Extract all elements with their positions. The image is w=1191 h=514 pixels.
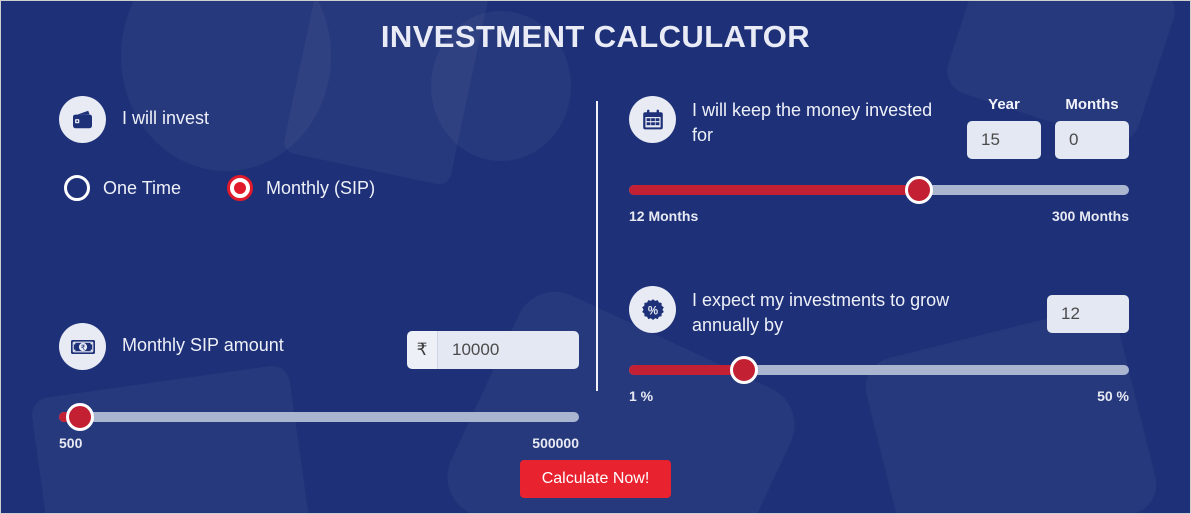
wallet-icon	[59, 96, 106, 143]
duration-months-label: Months	[1065, 96, 1118, 113]
sip-amount-slider-scale: 500 500000	[59, 435, 579, 451]
radio-circle-monthly-sip[interactable]	[227, 175, 253, 201]
growth-slider-thumb[interactable]	[730, 356, 758, 384]
growth-slider-fill	[629, 365, 744, 375]
duration-months-field: Months	[1055, 96, 1129, 159]
radio-option-monthly-sip[interactable]: Monthly (SIP)	[227, 175, 375, 201]
sip-amount-slider-min: 500	[59, 435, 82, 451]
sip-amount-slider[interactable]	[59, 412, 579, 422]
growth-section: % I expect my investments to grow annual…	[629, 286, 1129, 338]
radio-label-monthly-sip: Monthly (SIP)	[266, 178, 375, 199]
sip-amount-input[interactable]	[438, 331, 579, 369]
duration-label: I will keep the money invested for	[692, 96, 952, 148]
right-column: I will keep the money invested for Year …	[629, 96, 1129, 404]
investment-calculator-widget: INVESTMENT CALCULATOR I will invest One …	[0, 0, 1191, 514]
duration-slider-max: 300 Months	[1052, 208, 1129, 224]
percent-badge-icon: %	[629, 286, 676, 333]
cta-wrapper: Calculate Now!	[1, 460, 1190, 498]
right-spacer	[629, 224, 1129, 286]
radio-option-one-time[interactable]: One Time	[64, 175, 181, 201]
growth-label: I expect my investments to grow annually…	[692, 286, 999, 338]
invest-type-radio-group: One Time Monthly (SIP)	[64, 175, 579, 201]
duration-section: I will keep the money invested for Year …	[629, 96, 1129, 159]
invest-type-label: I will invest	[122, 96, 209, 131]
duration-year-label: Year	[988, 96, 1020, 113]
sip-amount-input-group[interactable]: ₹	[407, 331, 579, 369]
duration-slider-min: 12 Months	[629, 208, 698, 224]
calendar-icon	[629, 96, 676, 143]
growth-slider[interactable]	[629, 365, 1129, 375]
column-divider	[596, 101, 598, 391]
growth-slider-max: 50 %	[1097, 388, 1129, 404]
sip-amount-section: ₹ Monthly SIP amount ₹	[59, 323, 579, 370]
rupee-symbol-icon: ₹	[407, 331, 438, 369]
invest-type-section: I will invest	[59, 96, 579, 143]
duration-months-input[interactable]	[1055, 121, 1129, 159]
duration-year-input[interactable]	[967, 121, 1041, 159]
duration-fields: Year Months	[967, 96, 1129, 159]
left-column: I will invest One Time Monthly (SIP)	[59, 96, 579, 451]
left-spacer	[59, 201, 579, 323]
calculate-now-button[interactable]: Calculate Now!	[520, 460, 672, 498]
growth-slider-scale: 1 % 50 %	[629, 388, 1129, 404]
svg-text:₹: ₹	[80, 343, 85, 352]
sip-amount-label: Monthly SIP amount	[122, 323, 284, 358]
sip-amount-slider-thumb[interactable]	[66, 403, 94, 431]
sip-amount-slider-wrap: 500 500000	[59, 412, 579, 451]
page-title: INVESTMENT CALCULATOR	[1, 19, 1190, 55]
duration-slider-wrap: 12 Months 300 Months	[629, 185, 1129, 224]
svg-text:%: %	[647, 305, 657, 317]
radio-label-one-time: One Time	[103, 178, 181, 199]
duration-slider-thumb[interactable]	[905, 176, 933, 204]
duration-slider-fill	[629, 185, 919, 195]
banknote-rupee-icon: ₹	[59, 323, 106, 370]
sip-amount-slider-max: 500000	[532, 435, 579, 451]
growth-slider-min: 1 %	[629, 388, 653, 404]
duration-slider-scale: 12 Months 300 Months	[629, 208, 1129, 224]
radio-circle-one-time[interactable]	[64, 175, 90, 201]
duration-slider[interactable]	[629, 185, 1129, 195]
growth-rate-input[interactable]	[1047, 295, 1129, 333]
growth-slider-wrap: 1 % 50 %	[629, 365, 1129, 404]
duration-year-field: Year	[967, 96, 1041, 159]
